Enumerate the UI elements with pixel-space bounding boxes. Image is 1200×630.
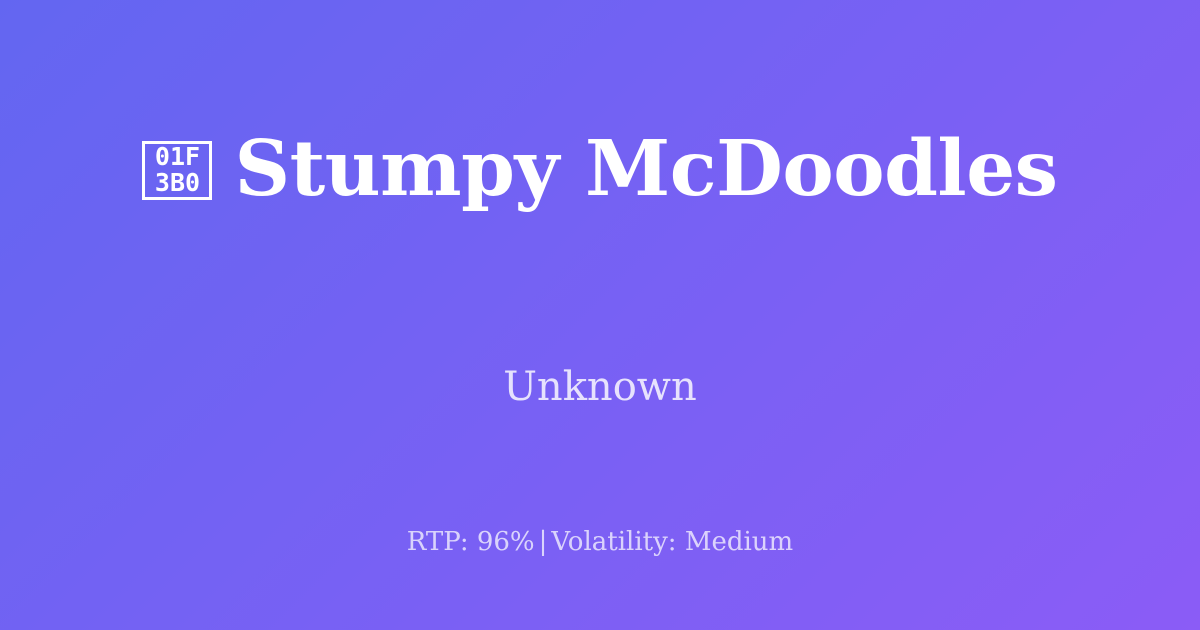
provider-label: Unknown — [0, 360, 1200, 414]
page-title: Stumpy McDoodles — [234, 129, 1057, 211]
slot-machine-icon: 01F 3B0 — [142, 141, 212, 200]
rtp-stat: RTP: 96% — [407, 527, 535, 557]
tofu-hex-bottom: 3B0 — [155, 170, 200, 196]
tofu-hex-top: 01F — [155, 144, 200, 170]
volatility-stat: Volatility: Medium — [551, 527, 793, 557]
og-share-card: 01F 3B0 Stumpy McDoodles Unknown RTP: 96… — [0, 0, 1200, 630]
title-row: 01F 3B0 Stumpy McDoodles — [0, 0, 1200, 340]
stats-line: RTP: 96%|Volatility: Medium — [0, 524, 1200, 560]
stats-separator: | — [535, 527, 552, 557]
